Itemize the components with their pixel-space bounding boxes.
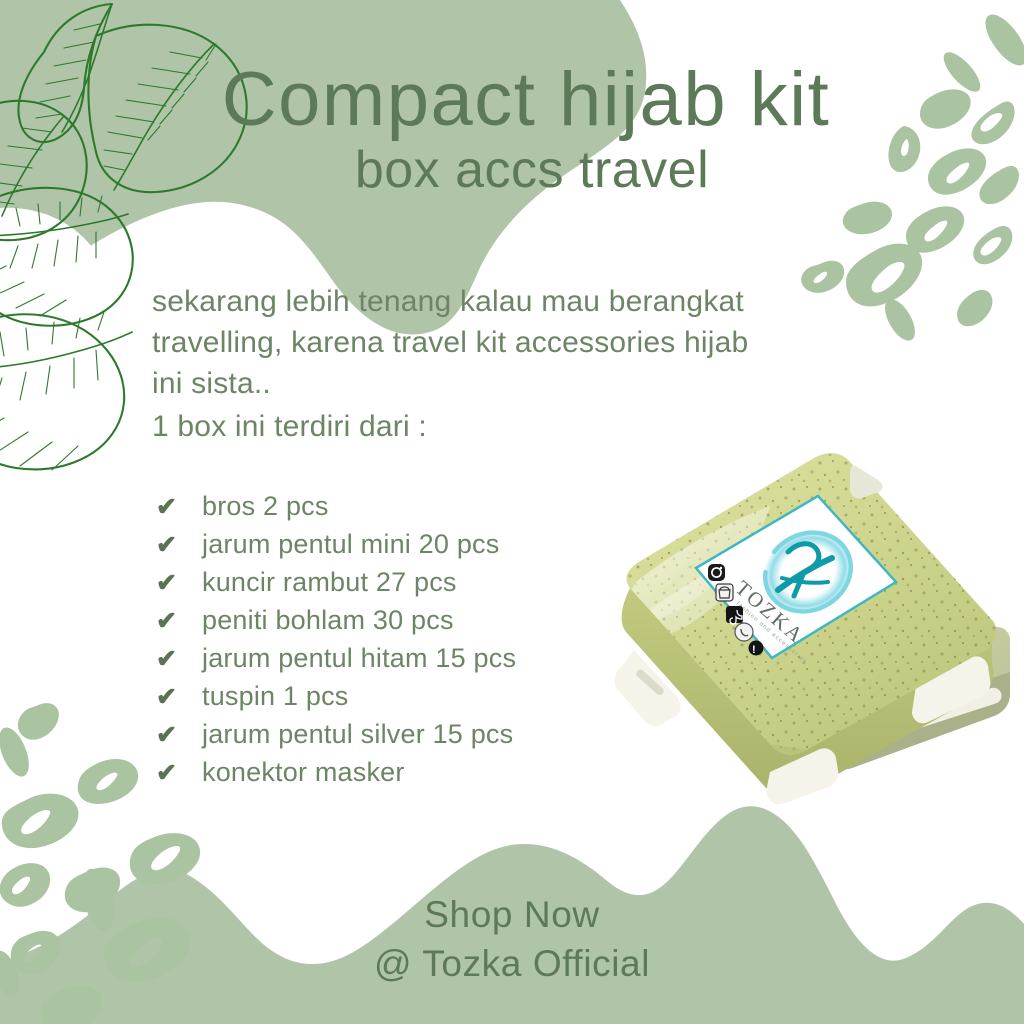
list-item-label: kuncir rambut 27 pcs bbox=[202, 563, 457, 601]
contents-list: ✔ bros 2 pcs ✔ jarum pentul mini 20 pcs … bbox=[156, 487, 516, 791]
list-item-label: bros 2 pcs bbox=[202, 487, 329, 525]
check-icon: ✔ bbox=[156, 488, 202, 526]
check-icon: ✔ bbox=[156, 564, 202, 602]
check-icon: ✔ bbox=[156, 716, 202, 754]
page-subtitle: box accs travel bbox=[0, 138, 1024, 203]
list-item-label: jarum pentul mini 20 pcs bbox=[202, 525, 499, 563]
instagram-icon bbox=[708, 564, 725, 581]
description-line: ini sista.. bbox=[152, 363, 912, 404]
whatsapp-icon bbox=[735, 623, 753, 641]
svg-text:!: ! bbox=[752, 644, 756, 656]
poster-canvas: TOZKA fashion and accessories bbox=[0, 0, 1024, 1024]
check-icon: ✔ bbox=[156, 526, 202, 564]
list-item: ✔ kuncir rambut 27 pcs bbox=[156, 563, 516, 601]
page-title: Compact hijab kit bbox=[0, 62, 1024, 138]
list-item: ✔ bros 2 pcs bbox=[156, 487, 516, 525]
list-item: ✔ tuspin 1 pcs bbox=[156, 677, 516, 715]
list-item: ✔ konektor masker bbox=[156, 753, 516, 791]
tiktok-icon bbox=[726, 606, 743, 624]
check-icon: ✔ bbox=[156, 640, 202, 678]
shopee-icon bbox=[716, 584, 733, 601]
list-item: ✔ jarum pentul silver 15 pcs bbox=[156, 715, 516, 753]
list-item: ✔ peniti bohlam 30 pcs bbox=[156, 601, 516, 639]
description-block: sekarang lebih tenang kalau mau berangka… bbox=[152, 281, 912, 447]
check-icon: ✔ bbox=[156, 754, 202, 792]
list-item-label: peniti bohlam 30 pcs bbox=[202, 601, 454, 639]
product-photo: TOZKA fashion and accessories bbox=[556, 432, 1024, 862]
check-icon: ✔ bbox=[156, 678, 202, 716]
check-icon: ✔ bbox=[156, 602, 202, 640]
description-line: travelling, karena travel kit accessorie… bbox=[152, 322, 912, 363]
footer-block: Shop Now @ Tozka Official bbox=[0, 890, 1024, 988]
description-line: 1 box ini terdiri dari : bbox=[152, 406, 912, 447]
description-line: sekarang lebih tenang kalau mau berangka… bbox=[152, 281, 912, 322]
social-handle[interactable]: @ Tozka Official bbox=[0, 939, 1024, 988]
list-item: ✔ jarum pentul mini 20 pcs bbox=[156, 525, 516, 563]
title-block: Compact hijab kit box accs travel bbox=[0, 62, 1024, 203]
list-item: ✔ jarum pentul hitam 15 pcs bbox=[156, 639, 516, 677]
list-item-label: jarum pentul hitam 15 pcs bbox=[202, 639, 516, 677]
list-item-label: jarum pentul silver 15 pcs bbox=[202, 715, 513, 753]
shop-now-cta[interactable]: Shop Now bbox=[0, 890, 1024, 939]
product-illustration: TOZKA fashion and accessories bbox=[556, 432, 1024, 862]
list-item-label: tuspin 1 pcs bbox=[202, 677, 348, 715]
list-item-label: konektor masker bbox=[202, 753, 405, 791]
